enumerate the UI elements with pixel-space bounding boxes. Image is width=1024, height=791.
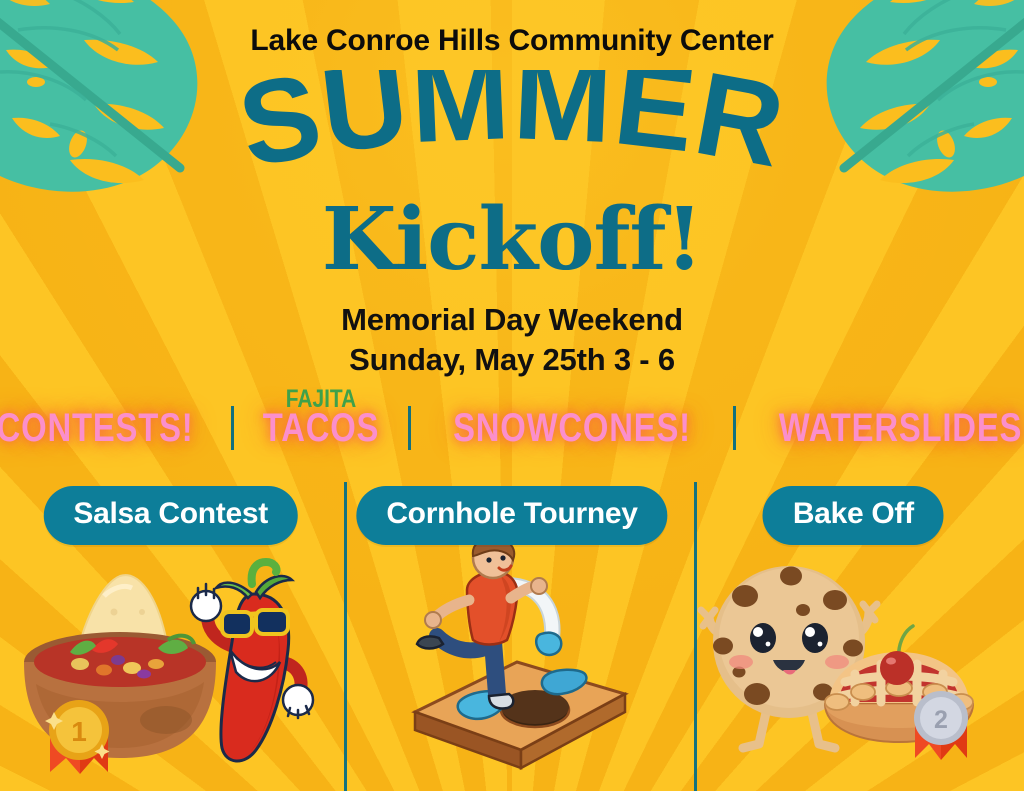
activity-column-salsa: Salsa Contest	[0, 470, 341, 791]
feature-overlay-fajita: FAJITA	[286, 385, 356, 414]
second-place-medal-icon: 2	[914, 691, 968, 760]
organization-title: Lake Conroe Hills Community Center	[0, 24, 1024, 58]
column-divider	[344, 482, 347, 791]
headline-summer-container: SUMMER	[0, 70, 1024, 190]
activity-column-bakeoff: Bake Off	[683, 470, 1024, 791]
cornhole-player-board-illustration	[341, 546, 682, 791]
feature-item-tacos: FAJITA TACOS	[250, 406, 393, 451]
medal-place-number: 2	[934, 706, 948, 734]
cookie-character-cherry-pie-illustration: 2	[683, 546, 1024, 791]
medal-place-number: 1	[71, 716, 87, 747]
activity-label-salsa-contest[interactable]: Salsa Contest	[43, 486, 298, 545]
subheadline-kickoff: Kickoff!	[0, 197, 1024, 283]
feature-separator	[733, 406, 736, 450]
summer-kickoff-flyer: Lake Conroe Hills Community Center SUMME…	[0, 0, 1024, 791]
activity-label-cornhole-tourney[interactable]: Cornhole Tourney	[356, 486, 667, 545]
feature-item-contests: CONTESTS!	[0, 406, 207, 451]
feature-item-waterslides: WATERSLIDES	[766, 406, 1024, 451]
glove-icon	[283, 685, 313, 718]
column-divider	[694, 482, 697, 791]
activity-columns: Salsa Contest	[0, 470, 1024, 791]
headline-summer-text: SUMMER	[229, 70, 794, 193]
headline-summer: SUMMER	[202, 70, 822, 200]
date-line-2: Sunday, May 25th 3 - 6	[0, 340, 1024, 380]
salsa-bowl-chili-pepper-illustration: 1	[0, 546, 341, 791]
cornhole-board-icon	[415, 662, 625, 768]
feature-separator	[231, 406, 234, 450]
date-line-1: Memorial Day Weekend	[0, 300, 1024, 340]
activity-column-cornhole: Cornhole Tourney	[341, 470, 682, 791]
feature-separator	[408, 406, 411, 450]
feature-item-snowcones: SNOWCONES!	[440, 406, 704, 451]
activity-label-bake-off[interactable]: Bake Off	[763, 486, 944, 545]
glove-icon	[191, 584, 221, 621]
feature-strip: CONTESTS! FAJITA TACOS SNOWCONES! WATERS…	[0, 400, 1024, 456]
svg-text:SUMMER: SUMMER	[229, 70, 794, 193]
event-dates: Memorial Day Weekend Sunday, May 25th 3 …	[0, 300, 1024, 379]
